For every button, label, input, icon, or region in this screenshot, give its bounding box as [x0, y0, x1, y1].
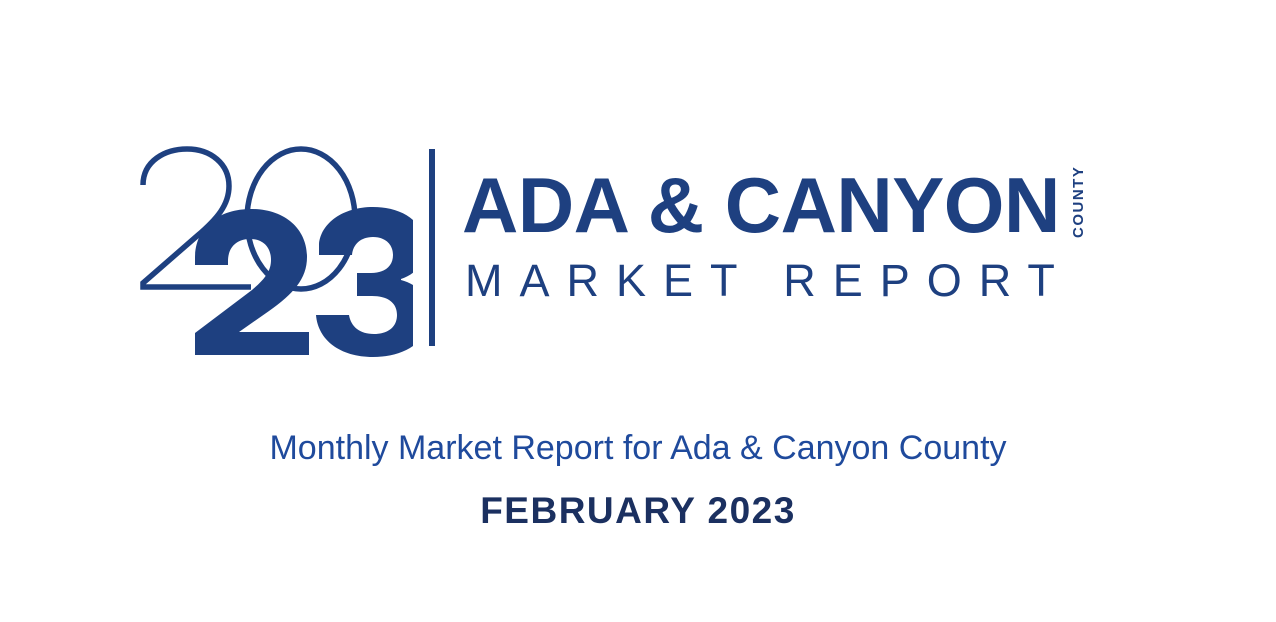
year-mark-2023	[133, 143, 413, 358]
report-period-line: FEBRUARY 2023	[0, 489, 1276, 533]
logo-vertical-divider	[429, 149, 435, 346]
brand-county-tag: COUNTY	[1071, 172, 1086, 238]
caption-block: Monthly Market Report for Ada & Canyon C…	[0, 425, 1276, 533]
report-cover-page: ADA & CANYON COUNTY MARKET REPORT Monthl…	[0, 0, 1276, 622]
brand-subtitle: MARKET REPORT	[465, 258, 1072, 303]
year-mark-artwork	[133, 143, 413, 358]
brand-title-row: ADA & CANYON COUNTY	[462, 166, 1086, 242]
report-scope-line: Monthly Market Report for Ada & Canyon C…	[0, 425, 1276, 471]
brand-title: ADA & CANYON	[462, 166, 1060, 244]
solid-year-23-glyphs	[195, 207, 413, 357]
logo-wordmark: ADA & CANYON COUNTY MARKET REPORT	[462, 166, 1162, 326]
logo-lockup: ADA & CANYON COUNTY MARKET REPORT	[0, 0, 1276, 370]
